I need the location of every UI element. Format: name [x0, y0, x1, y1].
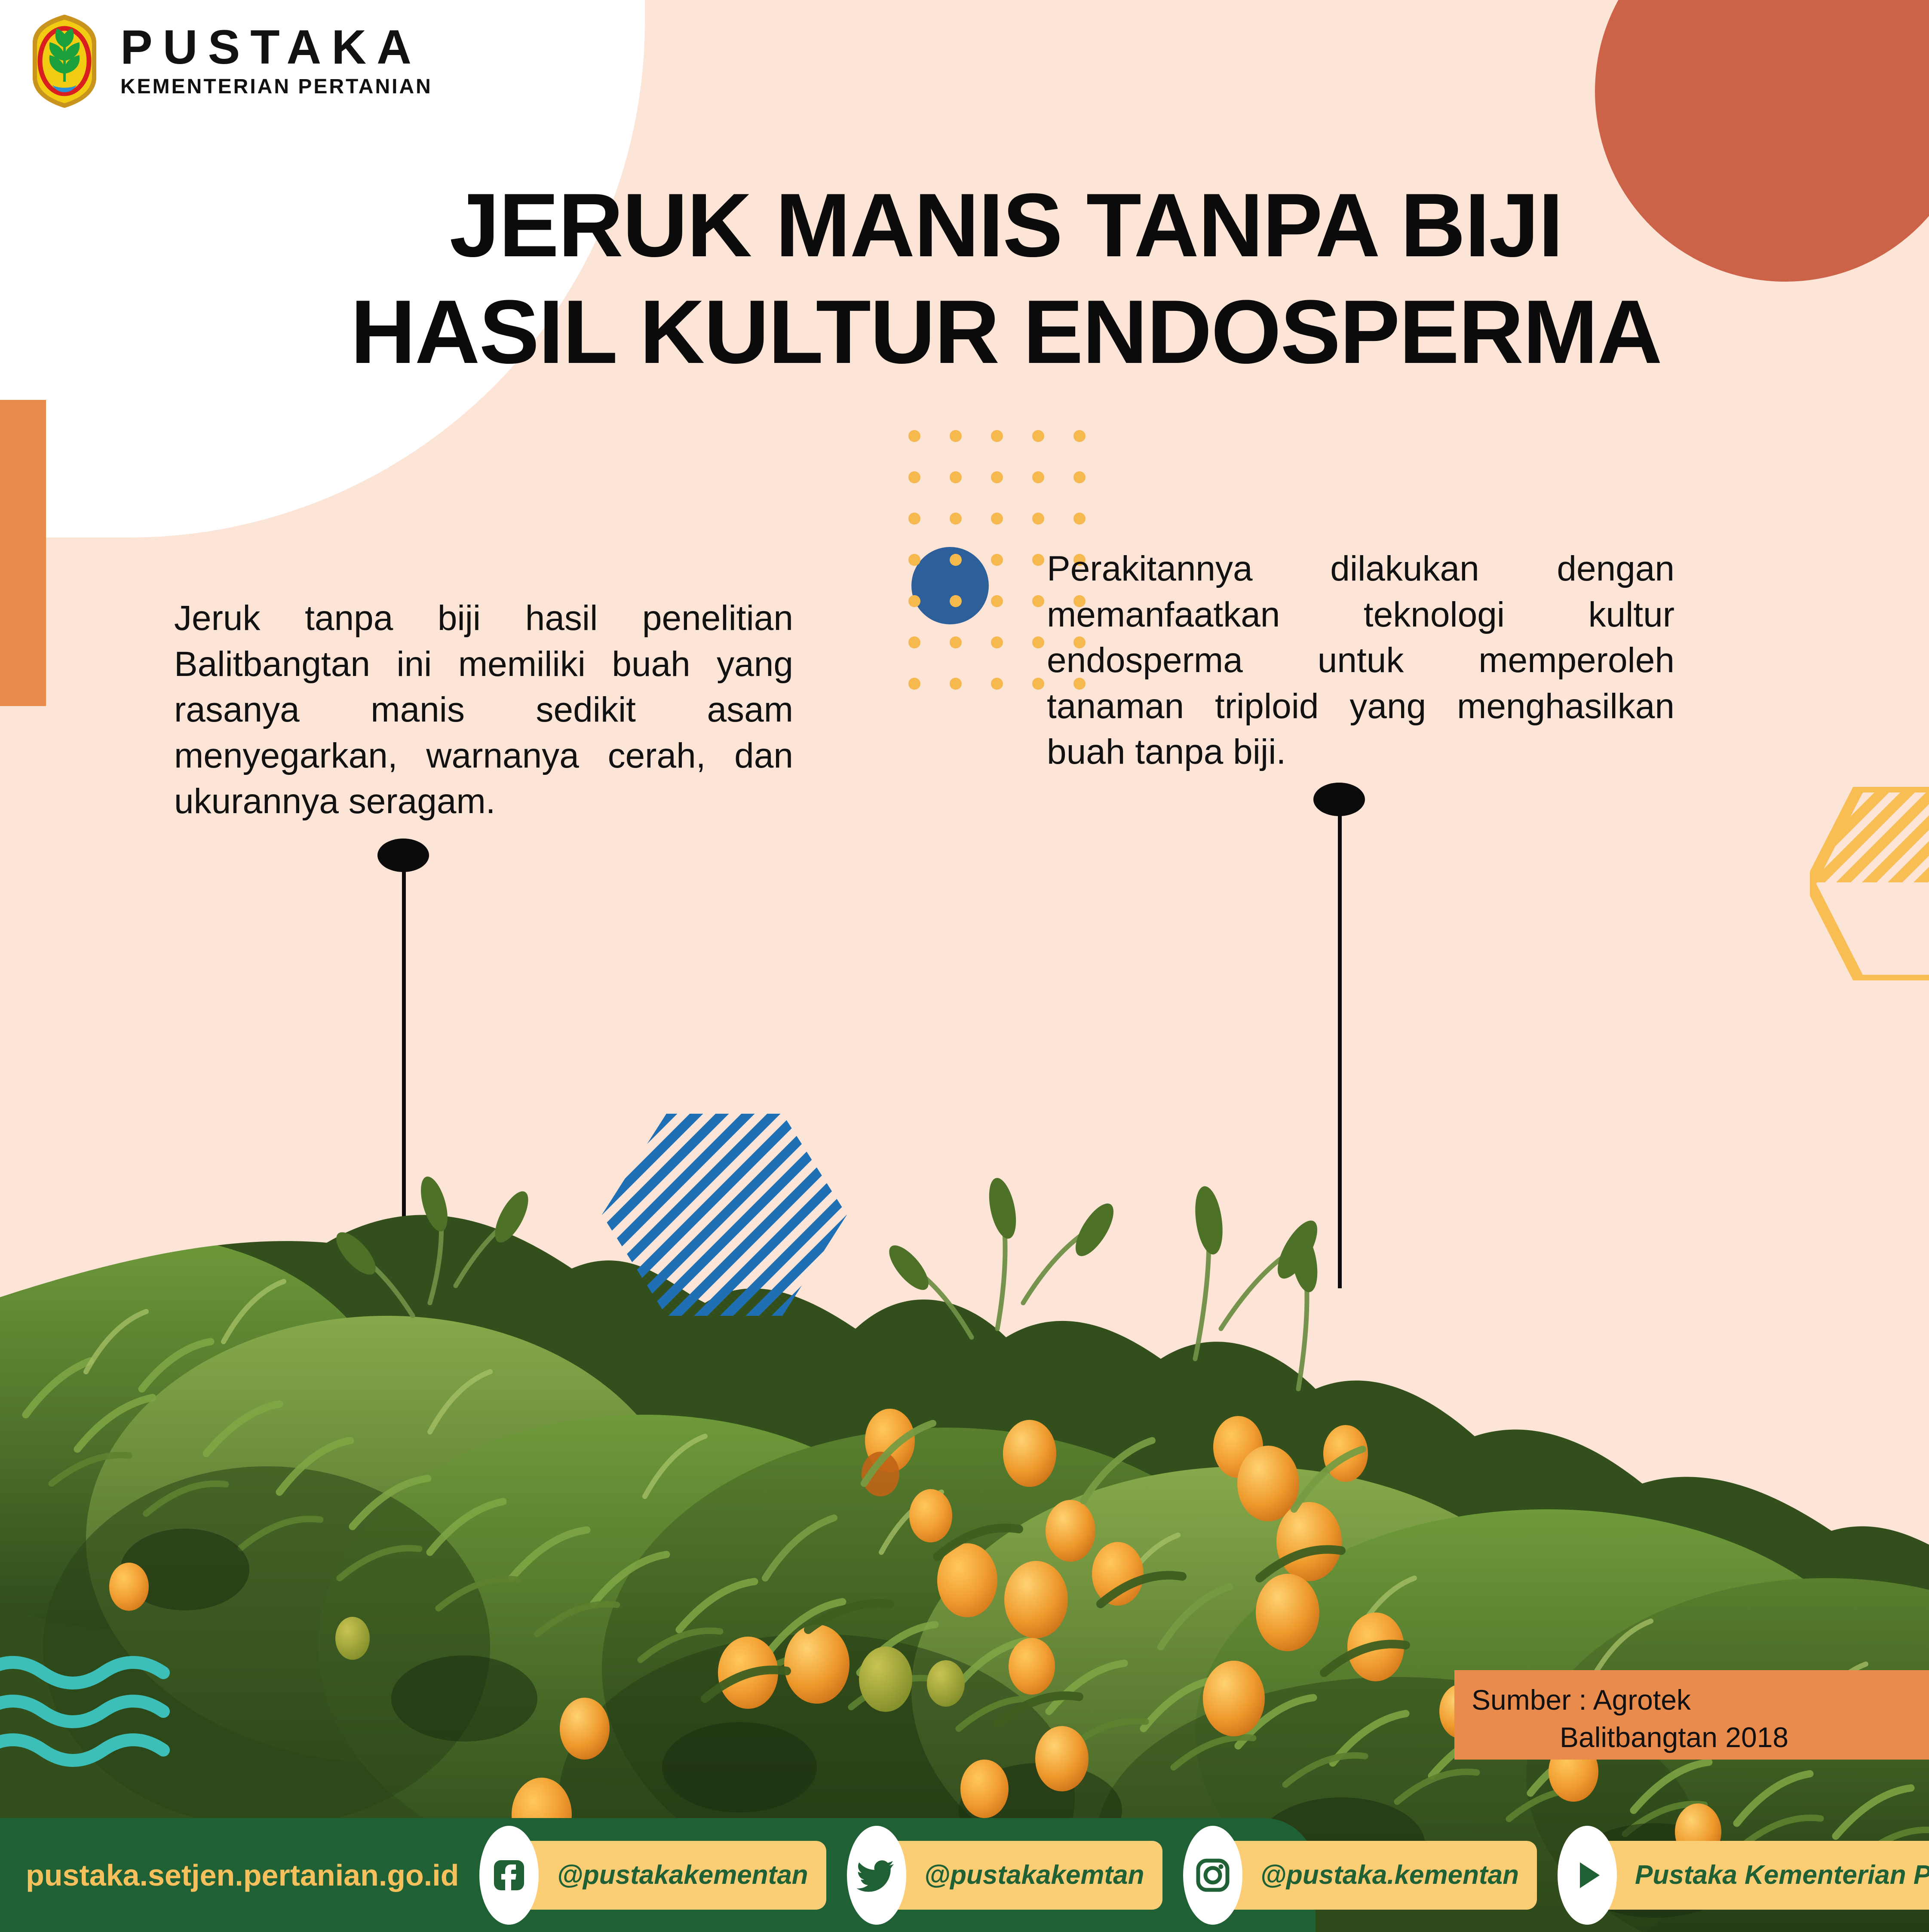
grid-dot	[991, 430, 1003, 442]
grid-dot	[950, 430, 962, 442]
orange-accent-bar-decoration	[0, 400, 46, 706]
grid-dot	[1032, 636, 1044, 648]
footer-bar: pustaka.setjen.pertanian.go.id @pustakak…	[0, 1818, 1929, 1932]
grid-dot	[908, 430, 920, 442]
grid-dot	[1032, 554, 1044, 566]
grid-dot	[1073, 430, 1086, 442]
pin-head-icon	[1313, 783, 1365, 816]
social-facebook[interactable]: @pustakakementan	[479, 1818, 826, 1932]
right-description-main: Perakitannya dilakukan dengan memanfaatk…	[1047, 549, 1674, 680]
grid-dot	[1032, 595, 1044, 607]
source-line-2: Balitbangtan 2018	[1472, 1719, 1912, 1756]
grid-dot	[991, 554, 1003, 566]
social-youtube[interactable]: Pustaka Kementerian Pertanian	[1558, 1818, 1929, 1932]
grid-dot	[1032, 430, 1044, 442]
blue-striped-hexagon-decoration	[602, 1114, 847, 1316]
brand-name: PUSTAKA	[120, 23, 432, 71]
grid-dot	[950, 595, 962, 607]
grid-dot	[908, 554, 920, 566]
twitter-icon[interactable]	[847, 1826, 906, 1925]
instagram-handle-pill[interactable]: @pustaka.kementan	[1196, 1841, 1537, 1910]
grid-dot	[991, 595, 1003, 607]
grid-dot	[950, 554, 962, 566]
grid-dot	[950, 636, 962, 648]
infographic-poster: (function(){ var g=document.currentScrip…	[0, 0, 1929, 1932]
grid-dot	[908, 595, 920, 607]
instagram-handle: @pustaka.kementan	[1260, 1860, 1519, 1890]
ministry-seal-icon	[26, 13, 103, 110]
brand-logo: PUSTAKA KEMENTERIAN PERTANIAN	[26, 13, 432, 110]
orange-orchard-photo	[0, 1002, 1929, 1932]
grid-dot	[908, 636, 920, 648]
pin-head-icon	[377, 839, 429, 872]
instagram-icon[interactable]	[1183, 1826, 1242, 1925]
youtube-play-icon[interactable]	[1558, 1826, 1617, 1925]
facebook-icon[interactable]	[479, 1826, 539, 1925]
yellow-hexagon-decoration	[1810, 787, 1929, 980]
grid-dot	[991, 513, 1003, 525]
grid-dot	[1032, 678, 1044, 690]
title-line-1: JERUK MANIS TANPA BIJI	[241, 172, 1771, 279]
youtube-handle: Pustaka Kementerian Pertanian	[1635, 1860, 1929, 1890]
source-line-1: Sumber : Agrotek	[1472, 1681, 1912, 1719]
source-attribution-box: Sumber : Agrotek Balitbangtan 2018	[1454, 1670, 1929, 1760]
grid-dot	[1032, 513, 1044, 525]
right-description-last: tanaman triploid yang menghasilkan buah …	[1047, 687, 1674, 772]
grid-dot	[908, 678, 920, 690]
grid-dot	[991, 678, 1003, 690]
facebook-handle-pill[interactable]: @pustakakementan	[492, 1841, 826, 1910]
facebook-handle: @pustakakementan	[557, 1860, 808, 1890]
youtube-handle-pill[interactable]: Pustaka Kementerian Pertanian	[1570, 1841, 1929, 1910]
social-twitter[interactable]: @pustakakemtan	[847, 1818, 1162, 1932]
grid-dot	[908, 471, 920, 483]
website-url-link[interactable]: pustaka.setjen.pertanian.go.id	[26, 1858, 459, 1892]
grid-dot	[950, 471, 962, 483]
grid-dot	[1032, 471, 1044, 483]
grid-dot	[950, 678, 962, 690]
right-description-text: Perakitannya dilakukan dengan memanfaatk…	[1047, 546, 1674, 775]
grid-dot	[991, 471, 1003, 483]
brand-subtitle: KEMENTERIAN PERTANIAN	[120, 74, 432, 100]
grid-dot	[1073, 513, 1086, 525]
twitter-handle: @pustakakemtan	[924, 1860, 1144, 1890]
grid-dot	[1073, 471, 1086, 483]
grid-dot	[991, 636, 1003, 648]
left-description-text: Jeruk tanpa biji hasil penelitian Balitb…	[174, 596, 793, 825]
social-instagram[interactable]: @pustaka.kementan	[1183, 1818, 1537, 1932]
teal-wave-decoration	[0, 1651, 172, 1772]
title-line-2: HASIL KULTUR ENDOSPERMA	[241, 279, 1771, 385]
grid-dot	[950, 513, 962, 525]
grid-dot	[908, 513, 920, 525]
page-title: JERUK MANIS TANPA BIJI HASIL KULTUR ENDO…	[241, 172, 1771, 385]
